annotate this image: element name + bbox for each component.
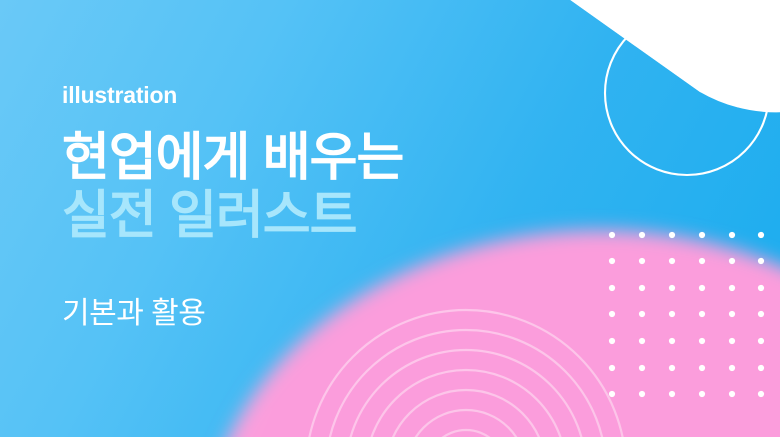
pie-wedge [545,0,780,98]
eyebrow-label: illustration [62,84,403,107]
headline-line-1: 현업에게 배우는 [62,131,403,185]
banner-text-block: illustration 현업에게 배우는 실전 일러스트 기본과 활용 [62,84,403,329]
dot-grid [609,232,764,397]
circle-outline [605,11,769,175]
pie-wedge-arc [545,0,780,112]
headline-line-2: 실전 일러스트 [62,189,403,243]
subtitle-label: 기본과 활용 [62,299,403,329]
illustration-course-banner: illustration 현업에게 배우는 실전 일러스트 기본과 활용 [0,0,780,437]
